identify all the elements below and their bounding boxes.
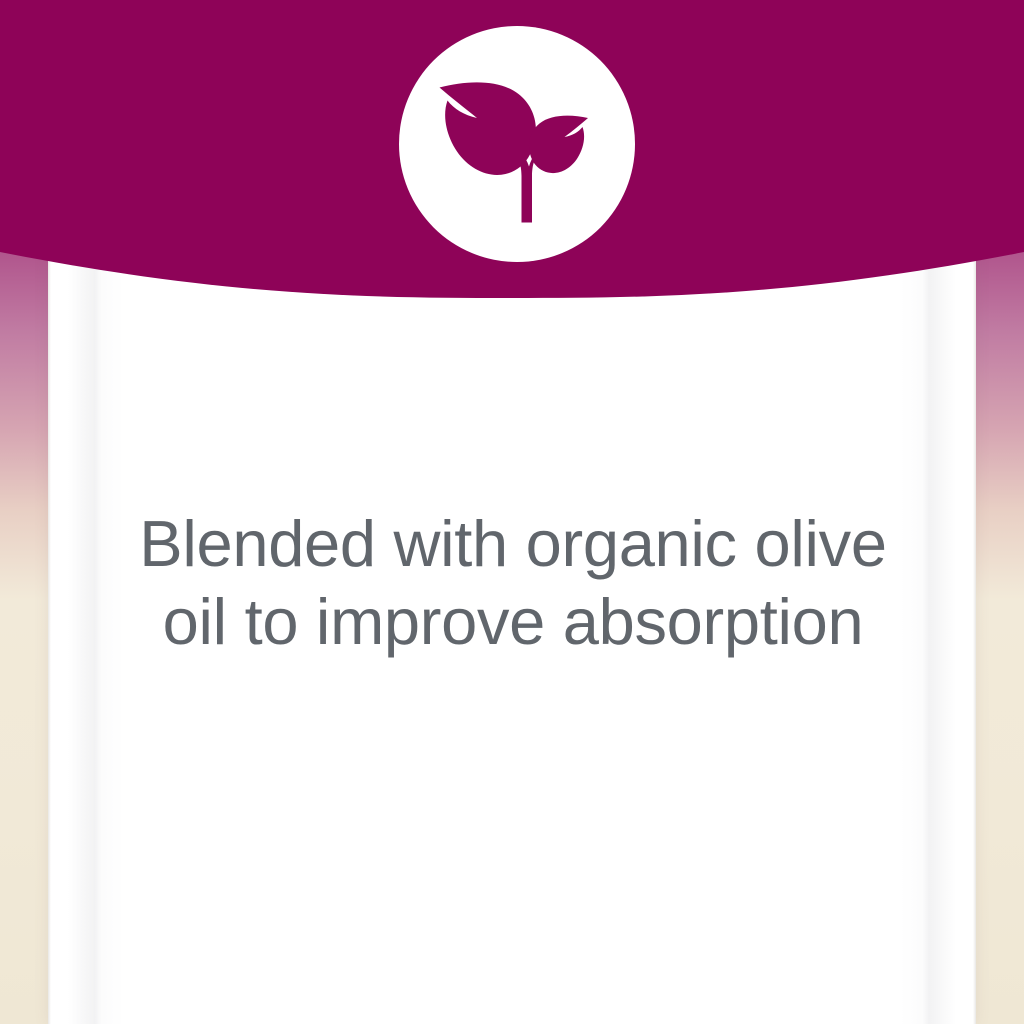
headline-line-1: Blended with organic olive [110, 505, 916, 583]
brand-logo-badge [399, 26, 635, 262]
product-benefit-card: Blended with organic olive oil to improv… [0, 0, 1024, 1024]
card-right-edge [973, 235, 976, 1024]
card-left-edge [48, 235, 51, 1024]
headline-line-2: oil to improve absorption [110, 583, 916, 661]
benefit-headline: Blended with organic olive oil to improv… [110, 505, 916, 661]
